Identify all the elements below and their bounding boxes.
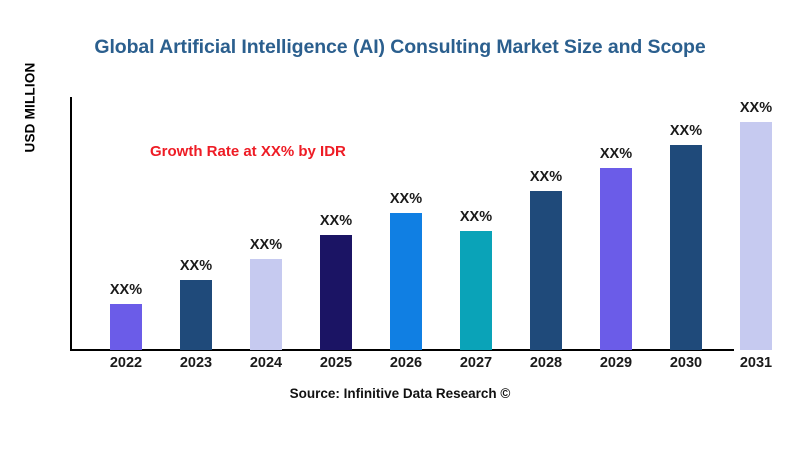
plot-area: XX%2022XX%2023XX%2024XX%2025XX%2026XX%20… (0, 0, 800, 450)
bar-value-label-2025: XX% (320, 213, 352, 229)
bar-value-label-2028: XX% (530, 169, 562, 185)
x-axis-tick-2028: 2028 (530, 355, 562, 371)
bar-2026[interactable] (390, 213, 422, 350)
chart-page: Global Artificial Intelligence (AI) Cons… (0, 0, 800, 450)
x-axis-tick-2027: 2027 (460, 355, 492, 371)
bar-2029[interactable] (600, 168, 632, 350)
bar-value-label-2023: XX% (180, 258, 212, 274)
x-axis-tick-2023: 2023 (180, 355, 212, 371)
x-axis-tick-2025: 2025 (320, 355, 352, 371)
bar-2024[interactable] (250, 259, 282, 350)
source-note: Source: Infinitive Data Research © (0, 386, 800, 401)
x-axis-tick-2030: 2030 (670, 355, 702, 371)
bar-value-label-2029: XX% (600, 146, 632, 162)
x-axis-tick-2024: 2024 (250, 355, 282, 371)
bar-value-label-2024: XX% (250, 237, 282, 253)
bar-2028[interactable] (530, 191, 562, 350)
bar-value-label-2026: XX% (390, 191, 422, 207)
x-axis-tick-2029: 2029 (600, 355, 632, 371)
x-axis-tick-2022: 2022 (110, 355, 142, 371)
bar-2030[interactable] (670, 145, 702, 350)
bar-2031[interactable] (740, 122, 772, 350)
x-axis-tick-2031: 2031 (740, 355, 772, 371)
bar-2027[interactable] (460, 231, 492, 350)
bar-2025[interactable] (320, 235, 352, 350)
bar-2022[interactable] (110, 304, 142, 350)
growth-rate-annotation: Growth Rate at XX% by IDR (150, 143, 346, 160)
bar-value-label-2031: XX% (740, 100, 772, 116)
bar-value-label-2030: XX% (670, 123, 702, 139)
bar-2023[interactable] (180, 280, 212, 350)
bar-value-label-2022: XX% (110, 282, 142, 298)
bar-value-label-2027: XX% (460, 209, 492, 225)
x-axis-tick-2026: 2026 (390, 355, 422, 371)
